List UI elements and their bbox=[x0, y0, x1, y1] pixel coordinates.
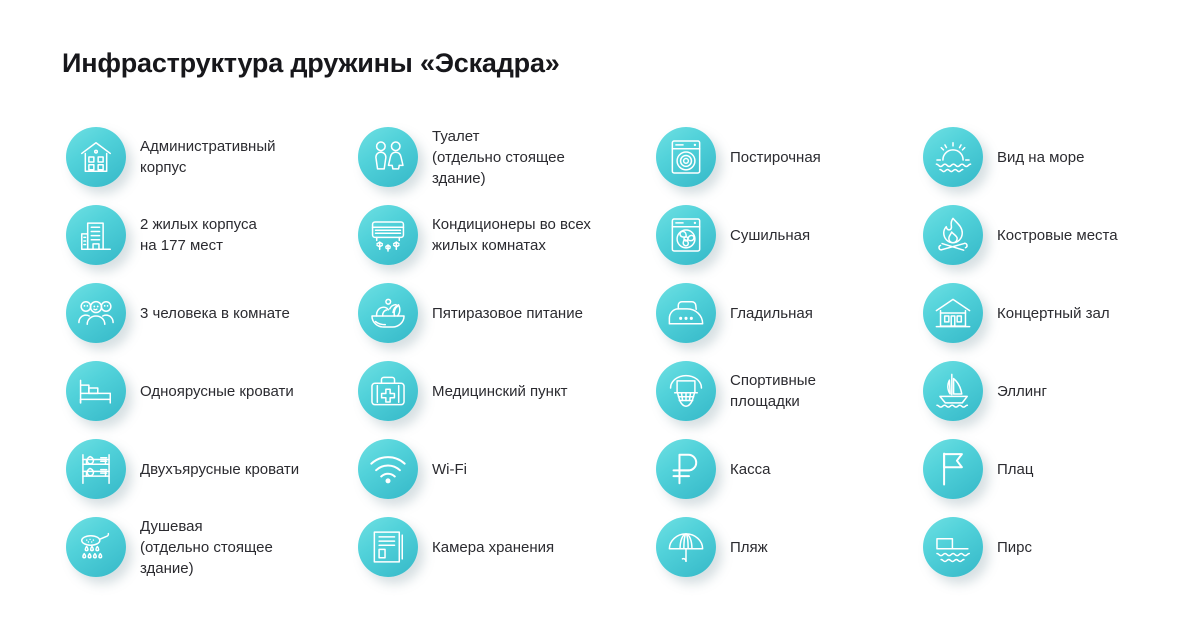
list-item-label: Эллинг bbox=[997, 381, 1047, 402]
list-item-label: Концертный зал bbox=[997, 303, 1110, 324]
list-item: Костровые места bbox=[923, 196, 1198, 274]
list-item: Эллинг bbox=[923, 352, 1198, 430]
list-item: Камера хранения bbox=[358, 508, 656, 586]
list-item: Медицинский пункт bbox=[358, 352, 656, 430]
list-item-label: Одноярусные кровати bbox=[140, 381, 294, 402]
shower-icon bbox=[66, 517, 126, 577]
list-item-label: Касса bbox=[730, 459, 770, 480]
concert-hall-icon bbox=[923, 283, 983, 343]
residential-buildings-icon bbox=[66, 205, 126, 265]
list-item-label: Пятиразовое питание bbox=[432, 303, 583, 324]
three-people-icon bbox=[66, 283, 126, 343]
list-item-label: Сушильная bbox=[730, 225, 810, 246]
list-item: Плац bbox=[923, 430, 1198, 508]
sea-view-icon bbox=[923, 127, 983, 187]
list-item: Административный корпус bbox=[66, 118, 358, 196]
infrastructure-column-2: Туалет (отдельно стоящее здание) Кондици… bbox=[358, 118, 656, 586]
list-item: Постирочная bbox=[656, 118, 923, 196]
single-bed-icon bbox=[66, 361, 126, 421]
list-item-label: Медицинский пункт bbox=[432, 381, 568, 402]
list-item-label: Гладильная bbox=[730, 303, 813, 324]
list-item-label: 3 человека в комнате bbox=[140, 303, 290, 324]
list-item: Туалет (отдельно стоящее здание) bbox=[358, 118, 656, 196]
infrastructure-column-4: Вид на море Костровые места Концертный з… bbox=[923, 118, 1198, 586]
list-item-label: Wi-Fi bbox=[432, 459, 467, 480]
washing-machine-icon bbox=[656, 127, 716, 187]
page-title: Инфраструктура дружины «Эскадра» bbox=[62, 48, 560, 79]
list-item: Пирс bbox=[923, 508, 1198, 586]
infrastructure-column-1: Административный корпус 2 жилых корпуса … bbox=[66, 118, 358, 586]
list-item: Пляж bbox=[656, 508, 923, 586]
luggage-storage-icon bbox=[358, 517, 418, 577]
list-item: Касса bbox=[656, 430, 923, 508]
list-item-label: Душевая (отдельно стоящее здание) bbox=[140, 516, 273, 579]
list-item-label: Пирс bbox=[997, 537, 1032, 558]
list-item-label: Спортивные площадки bbox=[730, 370, 816, 412]
list-item: Кондиционеры во всех жилых комнатах bbox=[358, 196, 656, 274]
list-item: Пятиразовое питание bbox=[358, 274, 656, 352]
list-item: Двухъярусные кровати bbox=[66, 430, 358, 508]
list-item-label: Постирочная bbox=[730, 147, 821, 168]
list-item: 3 человека в комнате bbox=[66, 274, 358, 352]
iron-icon bbox=[656, 283, 716, 343]
list-item-label: Плац bbox=[997, 459, 1033, 480]
list-item-label: Камера хранения bbox=[432, 537, 554, 558]
infrastructure-column-3: Постирочная Сушильная Гладильная Спортив… bbox=[656, 118, 923, 586]
beach-umbrella-icon bbox=[656, 517, 716, 577]
list-item: Вид на море bbox=[923, 118, 1198, 196]
administrative-building-icon bbox=[66, 127, 126, 187]
ruble-icon bbox=[656, 439, 716, 499]
list-item: Спортивные площадки bbox=[656, 352, 923, 430]
medical-kit-icon bbox=[358, 361, 418, 421]
list-item-label: Административный корпус bbox=[140, 136, 276, 178]
list-item-label: Костровые места bbox=[997, 225, 1118, 246]
list-item-label: Вид на море bbox=[997, 147, 1084, 168]
pier-icon bbox=[923, 517, 983, 577]
list-item: Сушильная bbox=[656, 196, 923, 274]
dryer-icon bbox=[656, 205, 716, 265]
wifi-icon bbox=[358, 439, 418, 499]
flag-icon bbox=[923, 439, 983, 499]
list-item-label: Пляж bbox=[730, 537, 768, 558]
salad-bowl-icon bbox=[358, 283, 418, 343]
infrastructure-grid: Административный корпус 2 жилых корпуса … bbox=[0, 118, 1200, 586]
toilet-icon bbox=[358, 127, 418, 187]
list-item: Одноярусные кровати bbox=[66, 352, 358, 430]
air-conditioner-icon bbox=[358, 205, 418, 265]
list-item: Гладильная bbox=[656, 274, 923, 352]
list-item: 2 жилых корпуса на 177 мест bbox=[66, 196, 358, 274]
list-item: Душевая (отдельно стоящее здание) bbox=[66, 508, 358, 586]
campfire-icon bbox=[923, 205, 983, 265]
list-item: Wi-Fi bbox=[358, 430, 656, 508]
list-item-label: Двухъярусные кровати bbox=[140, 459, 299, 480]
basketball-hoop-icon bbox=[656, 361, 716, 421]
list-item: Концертный зал bbox=[923, 274, 1198, 352]
list-item-label: Туалет (отдельно стоящее здание) bbox=[432, 126, 565, 189]
list-item-label: Кондиционеры во всех жилых комнатах bbox=[432, 214, 591, 256]
list-item-label: 2 жилых корпуса на 177 мест bbox=[140, 214, 257, 256]
sailboat-icon bbox=[923, 361, 983, 421]
bunk-bed-icon bbox=[66, 439, 126, 499]
